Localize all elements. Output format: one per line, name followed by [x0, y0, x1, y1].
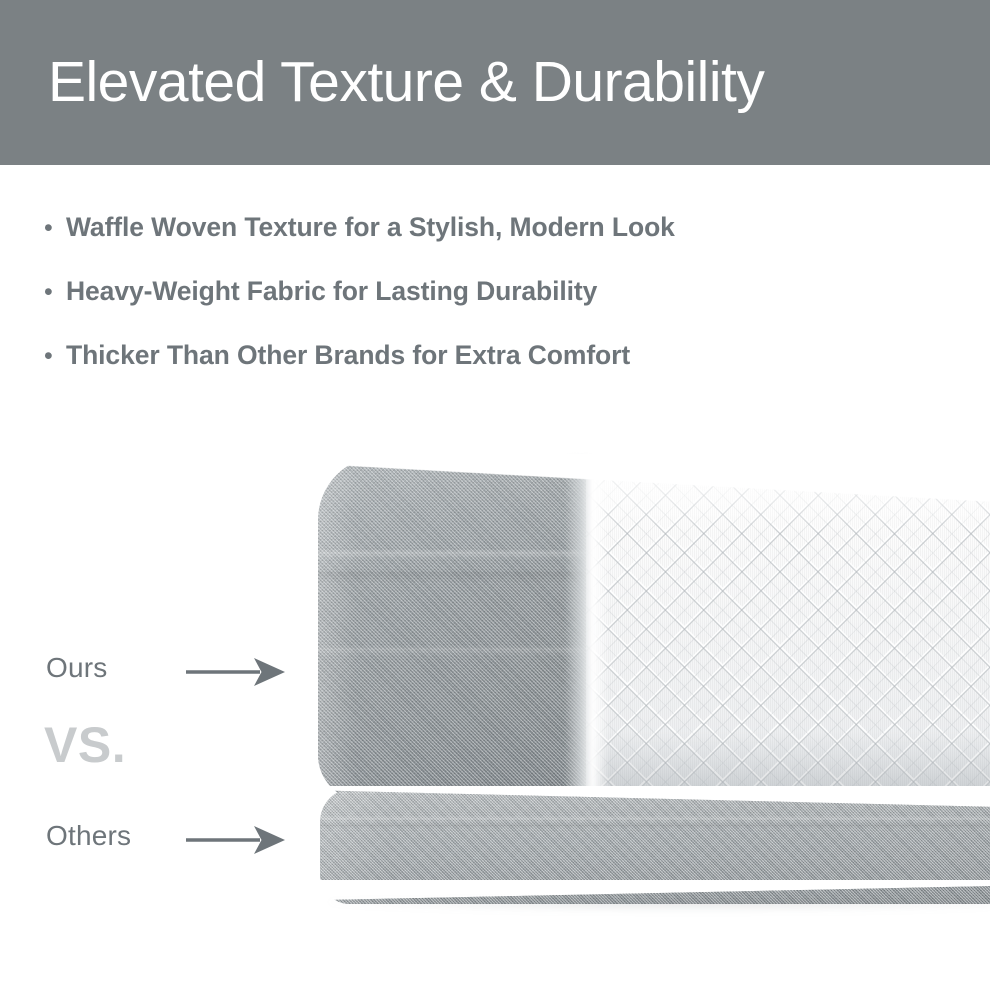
feature-text: Waffle Woven Texture for a Stylish, Mode… [66, 212, 675, 243]
others-blanket-image [320, 788, 990, 904]
others-blanket-shadow [330, 900, 990, 912]
ours-blanket-image [318, 456, 990, 801]
bullet-dot-icon: • [44, 216, 66, 241]
header-banner: Elevated Texture & Durability [0, 0, 990, 165]
fabric-crease-lines [318, 456, 586, 801]
vs-label: VS. [44, 716, 126, 774]
feature-bullet-list: • Waffle Woven Texture for a Stylish, Mo… [44, 212, 904, 404]
page-title: Elevated Texture & Durability [48, 53, 764, 113]
feature-text: Thicker Than Other Brands for Extra Comf… [66, 340, 630, 371]
arrow-right-icon [184, 654, 288, 695]
ours-gray-linen-panel [318, 456, 586, 801]
list-item: • Waffle Woven Texture for a Stylish, Mo… [44, 212, 904, 276]
list-item: • Thicker Than Other Brands for Extra Co… [44, 340, 904, 404]
plain-weave-pattern [320, 788, 990, 904]
list-item: • Heavy-Weight Fabric for Lasting Durabi… [44, 276, 904, 340]
others-plain-weave-panel [320, 788, 990, 904]
arrow-right-icon [184, 822, 288, 863]
bullet-dot-icon: • [44, 280, 66, 305]
feature-text: Heavy-Weight Fabric for Lasting Durabili… [66, 276, 597, 307]
ours-waffle-texture-panel [570, 456, 990, 801]
ours-label: Ours [46, 652, 107, 684]
waffle-cell-pattern [570, 456, 990, 801]
product-comparison-image [0, 430, 990, 930]
infographic-page: Elevated Texture & Durability • Waffle W… [0, 0, 990, 990]
others-label: Others [46, 820, 131, 852]
bullet-dot-icon: • [44, 344, 66, 369]
